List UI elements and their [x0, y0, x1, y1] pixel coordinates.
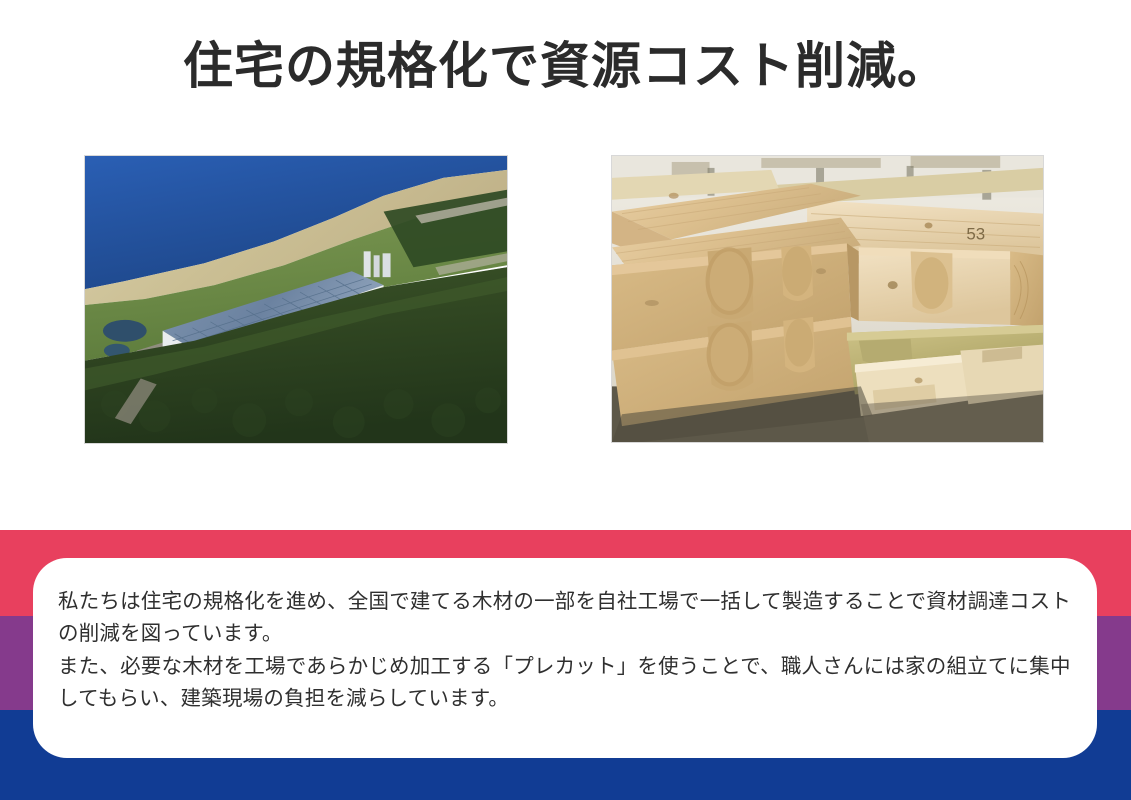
description-card: 私たちは住宅の規格化を進め、全国で建てる木材の一部を自社工場で一括して製造するこ…	[33, 558, 1097, 758]
precut-timber-photo: 53	[611, 155, 1044, 443]
description-text: 私たちは住宅の規格化を進め、全国で建てる木材の一部を自社工場で一括して製造するこ…	[58, 586, 1072, 716]
aerial-factory-photo	[84, 155, 508, 444]
aerial-factory-illustration	[85, 156, 507, 443]
page-title: 住宅の規格化で資源コスト削減。	[0, 36, 1131, 96]
slide-root: 住宅の規格化で資源コスト削減。	[0, 0, 1131, 800]
timber-marking-label: 53	[966, 224, 985, 243]
precut-timber-illustration: 53	[612, 156, 1043, 442]
